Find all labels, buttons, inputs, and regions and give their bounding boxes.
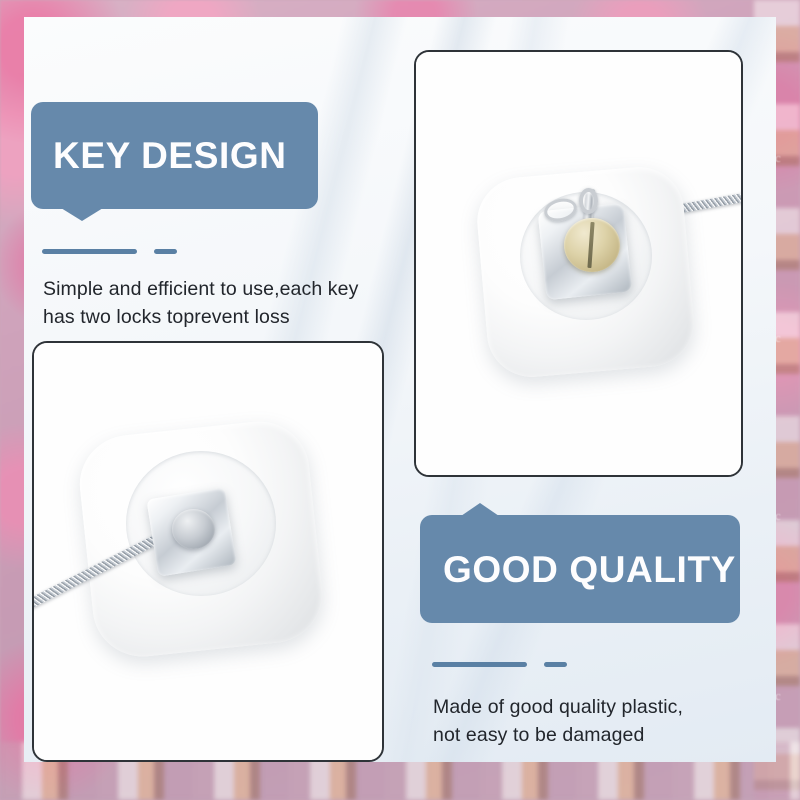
banner-title-key-design: KEY DESIGN [53,137,287,174]
dash-long [42,249,137,254]
key-bow-ring [579,188,598,214]
dash-short [544,662,567,667]
photo-key-design [414,50,743,477]
banner-title-good-quality: GOOD QUALITY [443,551,736,588]
body-line-2: has two locks toprevent loss [43,303,393,331]
dash-rule-good-quality [432,662,567,667]
photo-good-quality-canvas [34,343,382,760]
dash-rule-key-design [42,249,177,254]
body-line-1: Made of good quality plastic, [433,693,763,721]
banner-key-design: KEY DESIGN [31,102,318,209]
body-copy-good-quality: Made of good quality plastic, not easy t… [433,693,763,750]
dash-short [154,249,177,254]
product-infographic-card: KEY DESIGN Simple and efficient to use,e… [24,17,776,762]
dash-long [432,662,527,667]
body-copy-key-design: Simple and efficient to use,each key has… [43,275,393,332]
banner-tail-up-icon [461,503,499,516]
body-line-2: not easy to be damaged [433,721,763,749]
photo-good-quality [32,341,384,762]
body-line-1: Simple and efficient to use,each key [43,275,393,303]
banner-good-quality: GOOD QUALITY [420,515,740,623]
banner-tail-down-icon [61,208,103,221]
magnet-disc [172,509,215,549]
photo-key-design-canvas [416,52,741,475]
